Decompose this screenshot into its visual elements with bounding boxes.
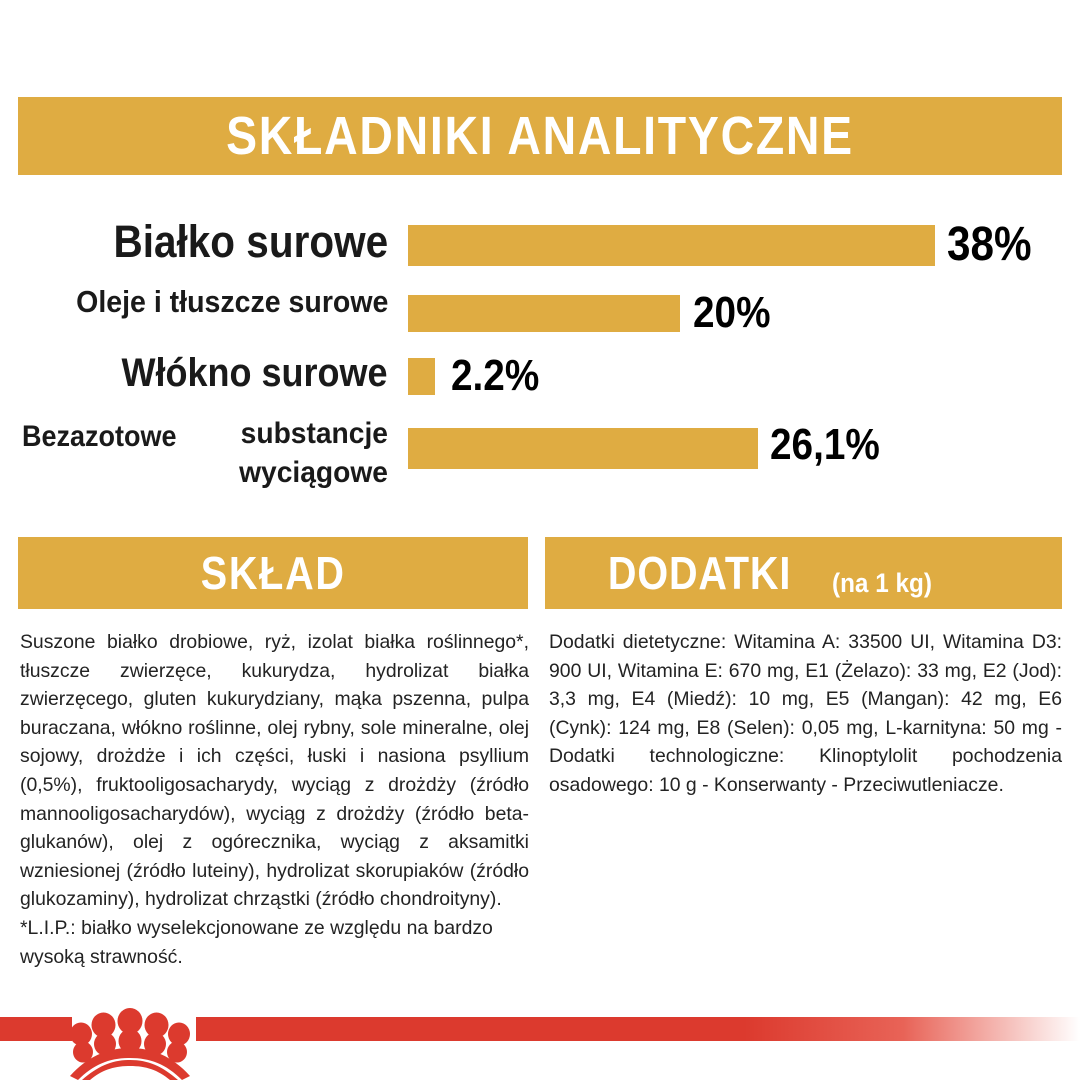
bar-value-fibre: 2.2% (451, 351, 539, 401)
analytical-constituents-chart: Białko surowe 38% Oleje i tłuszcze surow… (0, 200, 1080, 500)
chart-row: Bezazotowe substancjewyciągowe 26,1% (0, 412, 1080, 484)
composition-ingredients: Suszone białko drobiowe, ryż, izolat bia… (20, 631, 529, 910)
bar-label-fat: Oleje i tłuszcze surowe (76, 282, 388, 322)
bar-label-nfe-line1: substancje (241, 417, 388, 450)
analytical-constituents-title: SKŁADNIKI ANALITYCZNE (226, 105, 854, 167)
bar-label-fibre: Włókno surowe (122, 348, 388, 398)
bar-nfe (408, 428, 758, 469)
bar-value-fat: 20% (693, 288, 771, 338)
footer-rule-right (196, 1017, 1080, 1041)
bar-protein (408, 225, 935, 266)
chart-row: Oleje i tłuszcze surowe 20% (0, 282, 1080, 338)
analytical-constituents-header: SKŁADNIKI ANALITYCZNE (18, 97, 1062, 175)
additives-body: Dodatki dietetyczne: Witamina A: 33500 U… (549, 628, 1062, 800)
additives-header: DODATKI (na 1 kg) (545, 537, 1062, 609)
bar-fat (408, 295, 680, 332)
additives-list: Dodatki dietetyczne: Witamina A: 33500 U… (549, 631, 1062, 796)
additives-subtitle: (na 1 kg) (832, 568, 932, 599)
chart-row: Włókno surowe 2.2% (0, 348, 1080, 404)
bar-label-nfe-line2: wyciągowe (239, 456, 388, 489)
bar-fibre (408, 358, 435, 395)
bar-value-protein: 38% (947, 217, 1032, 273)
composition-header: SKŁAD (18, 537, 528, 609)
composition-footnote: *L.I.P.: białko wyselekcjonowane ze wzgl… (20, 914, 529, 971)
additives-title: DODATKI (608, 546, 791, 600)
footer-rule-left (0, 1017, 72, 1041)
chart-row: Białko surowe 38% (0, 214, 1080, 276)
bar-label-nfe-prefix: Bezazotowe (22, 418, 177, 456)
bar-value-nfe: 26,1% (770, 420, 880, 470)
royal-canin-crown-icon (66, 1008, 194, 1080)
bar-label-nfe: substancjewyciągowe (172, 414, 388, 492)
product-spec-panel: SKŁADNIKI ANALITYCZNE Białko surowe 38% … (0, 0, 1080, 1080)
composition-body: Suszone białko drobiowe, ryż, izolat bia… (20, 628, 529, 971)
bar-label-protein: Białko surowe (113, 214, 388, 270)
footer (0, 1008, 1080, 1080)
composition-title: SKŁAD (201, 546, 346, 600)
